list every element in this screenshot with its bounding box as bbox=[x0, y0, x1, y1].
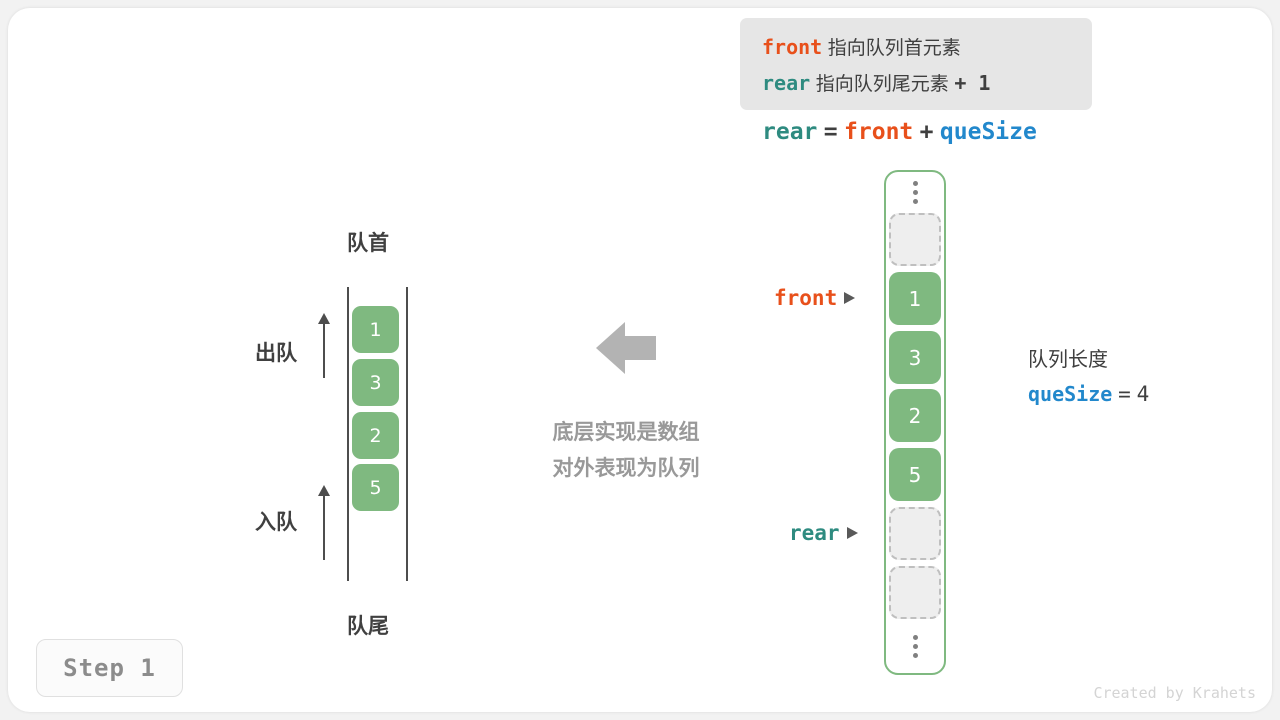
middle-caption: 底层实现是数组 对外表现为队列 bbox=[528, 414, 724, 486]
queue-rail-right bbox=[406, 287, 408, 581]
array-top-ellipsis-icon bbox=[889, 172, 941, 212]
rear-pointer-label: rear bbox=[789, 521, 840, 545]
queue-tail-label: 队尾 bbox=[347, 610, 389, 640]
queue-size-note: 队列长度 queSize = 4 bbox=[1028, 342, 1149, 413]
caption-line-2: 对外表现为队列 bbox=[528, 450, 724, 486]
front-pointer: front bbox=[774, 286, 855, 310]
pointer-legend-box: front 指向队列首元素 rear 指向队列尾元素 + 1 bbox=[740, 18, 1092, 110]
caption-line-1: 底层实现是数组 bbox=[528, 414, 724, 450]
queue-rail-left bbox=[347, 287, 349, 581]
legend-desc-rear: 指向队列尾元素 bbox=[816, 73, 949, 95]
array-bottom-ellipsis-icon bbox=[889, 626, 941, 666]
array-slot-empty bbox=[889, 213, 941, 266]
rear-pointer-arrow-icon bbox=[847, 527, 858, 539]
dequeue-label: 出队 bbox=[255, 337, 297, 367]
queue-size-value-row: queSize = 4 bbox=[1028, 376, 1149, 413]
array-slot-empty bbox=[889, 566, 941, 619]
formula-quesize: queSize bbox=[940, 119, 1037, 145]
formula-lhs: rear bbox=[762, 119, 817, 145]
queue-cell: 1 bbox=[352, 306, 399, 353]
watermark: Created by Krahets bbox=[1093, 684, 1256, 702]
rear-formula: rear = front + queSize bbox=[762, 118, 1037, 145]
array-slot-empty bbox=[889, 507, 941, 560]
queue-cell: 2 bbox=[352, 412, 399, 459]
legend-suffix-rear: + 1 bbox=[954, 71, 990, 95]
legend-row-front: front 指向队列首元素 bbox=[762, 30, 1092, 66]
legend-row-rear: rear 指向队列尾元素 + 1 bbox=[762, 66, 1092, 102]
legend-token-front: front bbox=[762, 35, 822, 59]
queue-head-label: 队首 bbox=[347, 227, 389, 257]
queue-cell: 3 bbox=[352, 359, 399, 406]
quesize-equals: = bbox=[1118, 382, 1131, 406]
array-slot-filled: 5 bbox=[889, 448, 941, 501]
formula-plus: + bbox=[920, 119, 934, 145]
queue-cell: 5 bbox=[352, 464, 399, 511]
front-pointer-label: front bbox=[774, 286, 837, 310]
array-slot-filled: 3 bbox=[889, 331, 941, 384]
array-slot-filled: 2 bbox=[889, 389, 941, 442]
enqueue-arrow-icon bbox=[317, 485, 331, 560]
quesize-value: 4 bbox=[1137, 382, 1150, 406]
rear-pointer: rear bbox=[789, 521, 858, 545]
queue-size-title: 队列长度 bbox=[1028, 342, 1149, 376]
legend-desc-front: 指向队列首元素 bbox=[828, 37, 961, 59]
front-pointer-arrow-icon bbox=[844, 292, 855, 304]
dequeue-arrow-icon bbox=[317, 313, 331, 378]
quesize-var: queSize bbox=[1028, 382, 1112, 406]
left-arrow-icon bbox=[596, 322, 656, 374]
step-badge: Step 1 bbox=[36, 639, 183, 697]
formula-front: front bbox=[844, 119, 913, 145]
enqueue-label: 入队 bbox=[255, 506, 297, 536]
array-slot-filled: 1 bbox=[889, 272, 941, 325]
legend-token-rear: rear bbox=[762, 71, 810, 95]
formula-equals: = bbox=[824, 119, 838, 145]
diagram-canvas: front 指向队列首元素 rear 指向队列尾元素 + 1 rear = fr… bbox=[0, 0, 1280, 720]
